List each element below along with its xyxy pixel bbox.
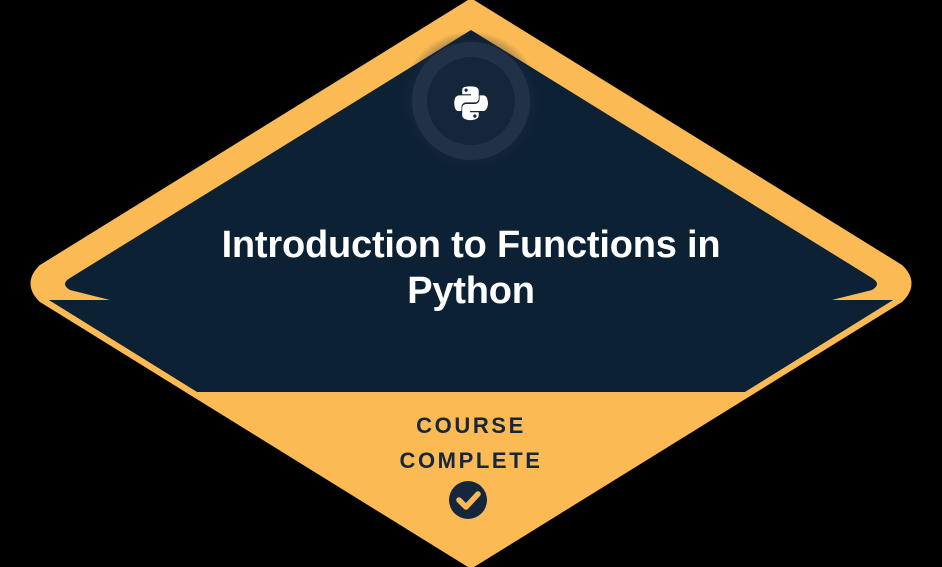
- badge-canvas: Introduction to Functions in Python COUR…: [0, 0, 942, 567]
- badge-graphic: [0, 0, 942, 567]
- check-circle-icon: [449, 481, 487, 519]
